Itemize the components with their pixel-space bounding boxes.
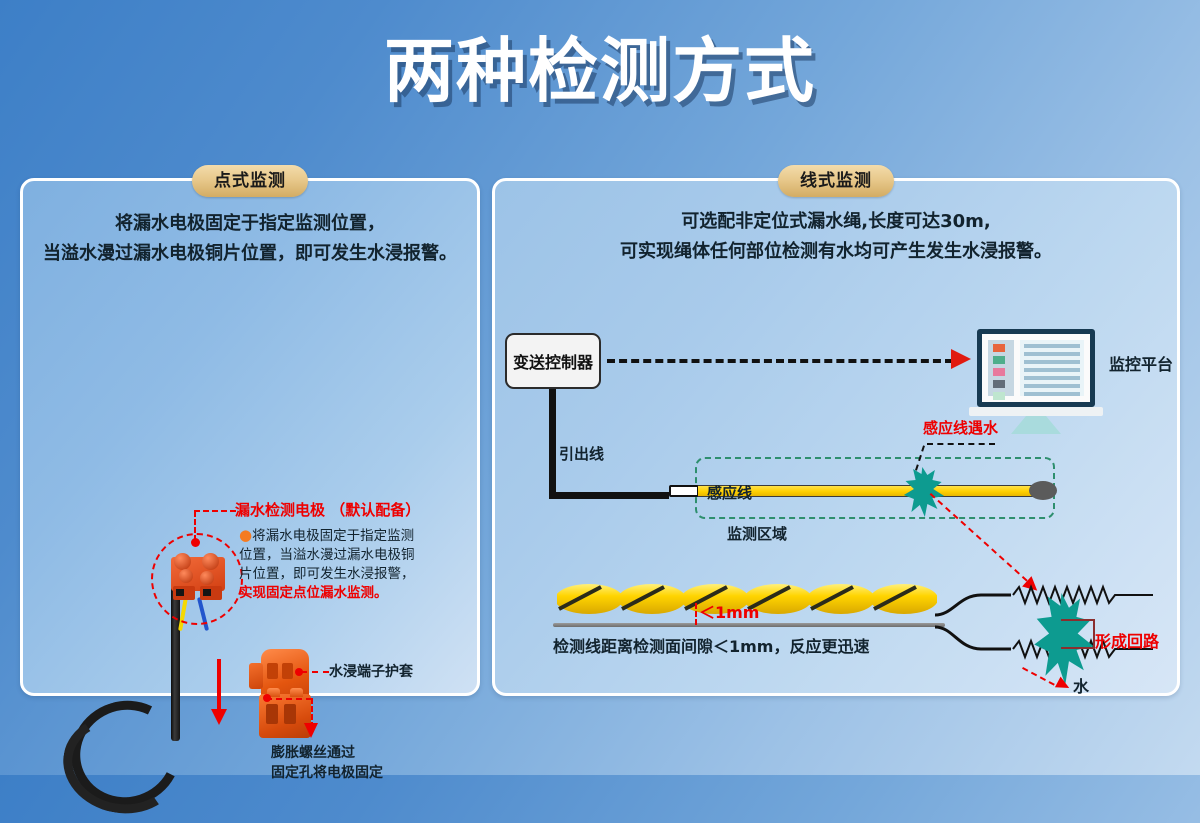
rope-caption: 检测线距离检测面间隙＜1mm，反应更迅速 bbox=[553, 633, 869, 657]
electrode-leader-horizontal bbox=[194, 510, 236, 512]
electrode-note: ●将漏水电极固定于指定监测 位置，当溢水漫过漏水电极铜 片位置，即可发生水浸报警… bbox=[239, 526, 463, 603]
leak-detection-electrode-icon bbox=[171, 553, 225, 603]
wet-leader-horizontal bbox=[927, 443, 995, 445]
electrode-note-line2: 位置，当溢水漫过漏水电极铜 bbox=[239, 546, 463, 565]
arrow-right-icon bbox=[951, 349, 971, 369]
left-description-line2: 当溢水漫过漏水电极铜片位置，即可发生水浸报警。 bbox=[23, 239, 477, 269]
circuit-loop-marker bbox=[1061, 619, 1095, 649]
monitor-sidebar bbox=[988, 340, 1014, 396]
arrow-down-icon bbox=[209, 659, 229, 727]
cover-leader-line bbox=[301, 671, 329, 673]
monitoring-platform-label: 监控平台 bbox=[1109, 351, 1173, 375]
water-label: 水 bbox=[1073, 673, 1089, 697]
badge-point-monitoring: 点式监测 bbox=[192, 165, 308, 197]
transmitter-controller-box: 变送控制器 bbox=[505, 333, 601, 389]
electrode-note-line1: ●将漏水电极固定于指定监测 bbox=[239, 526, 463, 546]
left-description: 将漏水电极固定于指定监测位置， 当溢水漫过漏水电极铜片位置，即可发生水浸报警。 bbox=[23, 209, 477, 269]
circuit-loop-label: 形成回路 bbox=[1095, 628, 1159, 652]
monitor-icon bbox=[977, 329, 1095, 407]
screw-label-line2: 固定孔将电极固定 bbox=[271, 763, 383, 783]
screw-label-line1: 膨胀螺丝通过 bbox=[271, 743, 383, 763]
screw-label: 膨胀螺丝通过 固定孔将电极固定 bbox=[271, 743, 383, 783]
sense-line-wet-label: 感应线遇水 bbox=[923, 417, 998, 438]
right-description-line1: 可选配非定位式漏水绳,长度可达30m, bbox=[495, 207, 1177, 237]
monitoring-zone-label: 监测区域 bbox=[727, 523, 787, 544]
badge-line-monitoring: 线式监测 bbox=[778, 165, 894, 197]
sense-line-connector bbox=[669, 485, 699, 497]
monitor-stand bbox=[1011, 416, 1061, 434]
right-description: 可选配非定位式漏水绳,长度可达30m, 可实现绳体任何部位检测有水均可产生发生水… bbox=[495, 207, 1177, 267]
monitor-base bbox=[969, 407, 1103, 416]
panel-line-monitoring: 线式监测 可选配非定位式漏水绳,长度可达30m, 可实现绳体任何部位检测有水均可… bbox=[492, 178, 1180, 696]
screw-arrow-head-icon bbox=[304, 723, 320, 739]
page-title: 两种检测方式 bbox=[0, 36, 1200, 106]
electrode-leader-vertical bbox=[194, 511, 196, 541]
right-description-line2: 可实现绳体任何部位检测有水均可产生发生水浸报警。 bbox=[495, 237, 1177, 267]
monitor-content bbox=[1020, 340, 1084, 396]
left-description-line1: 将漏水电极固定于指定监测位置， bbox=[23, 209, 477, 239]
controller-lead-wire bbox=[549, 389, 556, 499]
signal-dashed-line bbox=[607, 359, 953, 363]
gap-indicator-line bbox=[695, 603, 697, 625]
sense-line-label: 感应线 bbox=[707, 482, 752, 503]
sense-line-end-cap bbox=[1029, 481, 1057, 500]
electrode-note-line3: 片位置，即可发生水浸报警， bbox=[239, 565, 463, 584]
panel-point-monitoring: 点式监测 将漏水电极固定于指定监测位置， 当溢水漫过漏水电极铜片位置，即可发生水… bbox=[20, 178, 480, 696]
detection-surface-line bbox=[553, 623, 945, 627]
controller-lead-elbow bbox=[549, 492, 669, 499]
leadout-label: 引出线 bbox=[559, 443, 604, 464]
gap-label: ＜1mm bbox=[699, 599, 759, 623]
terminal-cover-label: 水浸端子护套 bbox=[329, 661, 413, 681]
electrode-note-text1: 将漏水电极固定于指定监测 bbox=[252, 528, 414, 544]
screw-leader-horizontal bbox=[266, 698, 312, 700]
bullet-dot-icon: ● bbox=[239, 526, 252, 544]
electrode-note-highlight: 实现固定点位漏水监测。 bbox=[239, 584, 463, 603]
electrode-label: 漏水检测电极 （默认配备） bbox=[235, 499, 420, 520]
